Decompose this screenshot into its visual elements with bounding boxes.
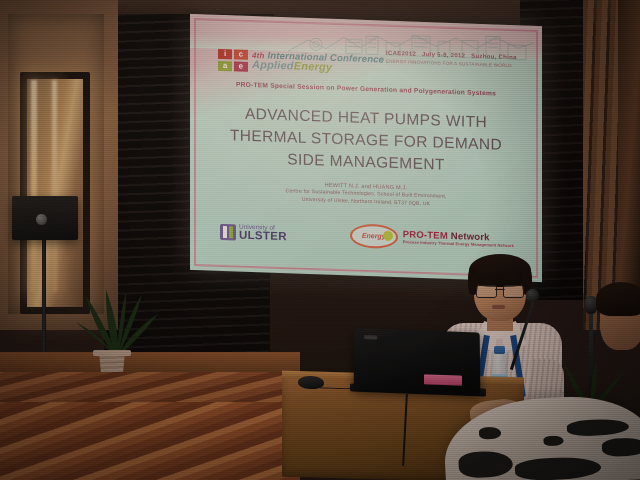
conference-title-text: 4th International Conference AppliedEner… — [252, 51, 384, 76]
icae-logo-blocks: i c a e — [218, 49, 248, 72]
wooden-floor — [0, 402, 300, 480]
photo-scene: i c a e 4th International Conference App… — [0, 0, 640, 480]
shirt-pattern-blob — [479, 427, 502, 440]
lamp-light-strip-secondary — [52, 80, 57, 292]
shirt-pattern-blob — [567, 418, 630, 437]
energy-logo-text: Energy — [362, 232, 386, 240]
glasses-lens-right — [503, 285, 524, 298]
protem-logo-group: Energy PRO-TEM Network Process Industry … — [350, 223, 514, 253]
shirt-pattern-blob — [543, 435, 563, 446]
shirt-pattern-blob — [458, 450, 513, 479]
loudspeaker-cone — [36, 214, 47, 225]
ulster-logo: University of ULSTER — [220, 224, 287, 243]
shirt-pattern-blob — [514, 455, 601, 480]
slide-authors-block: HEWITT N.J. and HUANG M.J. Centre for Su… — [200, 177, 532, 213]
energy-oval-logo: Energy — [350, 223, 398, 249]
presenter-mouth — [492, 305, 505, 309]
foreground-person-shirt-pattern — [450, 413, 640, 480]
energy-logo-dot — [383, 231, 393, 241]
wood-panel-right-edge — [618, 0, 640, 300]
slide-content: i c a e 4th International Conference App… — [200, 22, 532, 274]
icae-block-c: c — [234, 49, 248, 60]
conference-energy: Energy — [294, 61, 333, 74]
slide-title: ADVANCED HEAT PUMPS WITH THERMAL STORAGE… — [200, 102, 532, 180]
plant-pot-rim — [93, 350, 131, 356]
conference-details: ICAE2012 July 5-8, 2012 Suzhou, China EN… — [386, 51, 517, 69]
ulster-logo-text: University of ULSTER — [239, 224, 287, 243]
icae-block-a: a — [218, 61, 232, 72]
session-label: PRO-TEM Special Session on Power Generat… — [200, 80, 532, 99]
water-bottle-cap — [494, 346, 505, 354]
projection-screen: i c a e 4th International Conference App… — [190, 14, 542, 282]
wood-panel-right — [583, 0, 621, 330]
glasses-icon — [476, 285, 524, 296]
icae-block-e: e — [234, 61, 248, 72]
ulster-logo-mark — [220, 224, 236, 241]
protem-text: PRO-TEM Network Process Industry Thermal… — [403, 230, 514, 248]
second-person-hair — [596, 282, 640, 316]
ulster-logo-bottom: ULSTER — [239, 231, 287, 244]
glasses-lens-left — [476, 285, 497, 298]
mouse-cable — [320, 382, 358, 389]
conference-applied: Applied — [252, 59, 294, 72]
laptop-pink-sticker — [424, 374, 462, 385]
conference-location: Suzhou, China — [471, 54, 517, 62]
lamp-light-strip — [31, 80, 37, 292]
microphone-head — [526, 289, 539, 302]
laptop-logo — [364, 335, 377, 339]
shirt-pattern-blob — [602, 437, 640, 457]
icae-logo: i c a e 4th International Conference App… — [218, 49, 384, 77]
conference-code: ICAE2012 — [386, 51, 416, 58]
conference-dates: July 5-8, 2012 — [422, 52, 465, 60]
icae-block-i: i — [218, 49, 232, 60]
